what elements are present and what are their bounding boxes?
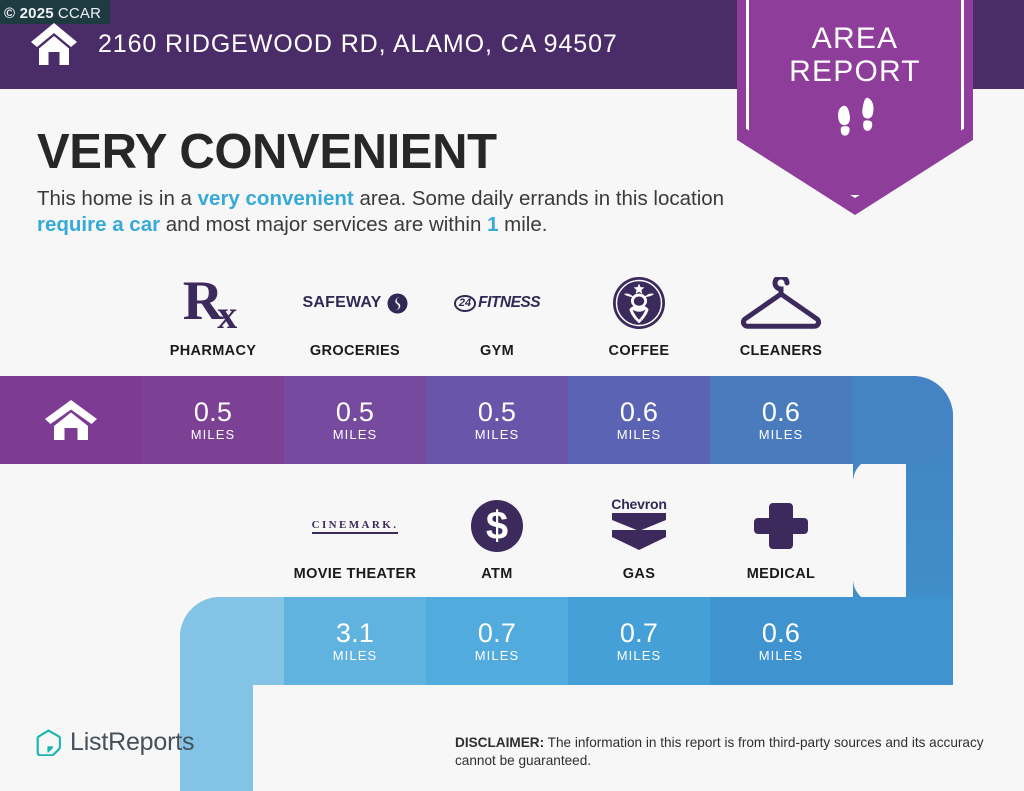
distance-segment-atm: 0.7 MILES xyxy=(426,597,568,685)
distance-segment-pharmacy: 0.5 MILES xyxy=(142,376,284,464)
home-marker-segment xyxy=(0,376,142,464)
distance-value: 3.1 xyxy=(336,619,374,647)
listreports-house-icon xyxy=(36,729,61,756)
distance-value: 0.5 xyxy=(478,398,516,426)
distance-segment-tail-2 xyxy=(852,597,953,685)
ribbon-line-2: REPORT xyxy=(737,55,973,88)
distance-segment-gas: 0.7 MILES xyxy=(568,597,710,685)
distance-segment-movie-theater: 3.1 MILES xyxy=(284,597,426,685)
distance-value: 0.7 xyxy=(620,619,658,647)
area-report-page: © 2025CCAR 2160 RIDGEWOOD RD, ALAMO, CA … xyxy=(0,0,1024,791)
distance-segment-lead xyxy=(180,597,284,685)
distance-value: 0.5 xyxy=(336,398,374,426)
distance-value: 0.6 xyxy=(762,398,800,426)
distance-value: 0.6 xyxy=(620,398,658,426)
distance-unit: MILES xyxy=(617,427,662,442)
snake-right-notch xyxy=(853,458,906,603)
ribbon-title: AREA REPORT xyxy=(737,22,973,88)
home-icon xyxy=(44,399,98,441)
distance-unit: MILES xyxy=(759,427,804,442)
distance-segment-groceries: 0.5 MILES xyxy=(284,376,426,464)
disclaimer-label: DISCLAIMER: xyxy=(455,735,544,750)
disclaimer: DISCLAIMER: The information in this repo… xyxy=(455,734,1000,770)
distance-unit: MILES xyxy=(191,427,236,442)
snake-left-notch xyxy=(253,678,313,791)
listreports-brand: ListReports xyxy=(36,728,194,757)
ribbon-line-1: AREA xyxy=(737,22,973,55)
distance-unit: MILES xyxy=(475,648,520,663)
distance-unit: MILES xyxy=(333,427,378,442)
distance-unit: MILES xyxy=(617,648,662,663)
listreports-wordmark: ListReports xyxy=(70,728,194,757)
distance-value: 0.6 xyxy=(762,619,800,647)
distance-value: 0.7 xyxy=(478,619,516,647)
distance-segment-gym: 0.5 MILES xyxy=(426,376,568,464)
distance-bar-row-1: 0.5 MILES 0.5 MILES 0.5 MILES 0.6 MILES … xyxy=(0,376,953,464)
distance-unit: MILES xyxy=(475,427,520,442)
distance-segment-tail xyxy=(852,376,953,464)
footsteps-icon xyxy=(831,94,883,144)
distance-segment-coffee: 0.6 MILES xyxy=(568,376,710,464)
distance-unit: MILES xyxy=(333,648,378,663)
distance-segment-cleaners: 0.6 MILES xyxy=(710,376,852,464)
distance-segment-medical: 0.6 MILES xyxy=(710,597,852,685)
distance-unit: MILES xyxy=(759,648,804,663)
distance-value: 0.5 xyxy=(194,398,232,426)
distance-bar-row-2: 3.1 MILES 0.7 MILES 0.7 MILES 0.6 MILES xyxy=(180,597,953,685)
